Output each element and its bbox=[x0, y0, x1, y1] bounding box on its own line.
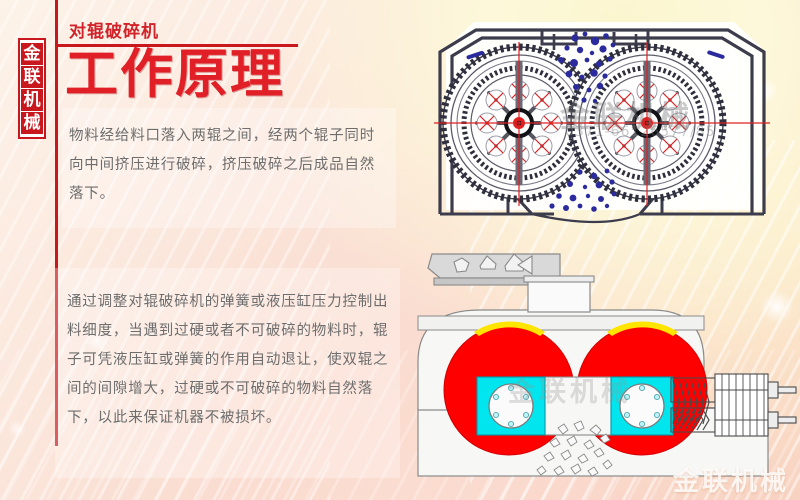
brand-logo-char: 械 bbox=[21, 112, 43, 134]
description-text-top: 物料经给料口落入两辊之间，经两个辊子同时向中间挤压进行破碎，挤压破碎之后成品自然… bbox=[69, 122, 386, 209]
description-panel-top: 物料经给料口落入两辊之间，经两个辊子同时向中间挤压进行破碎，挤压破碎之后成品自然… bbox=[62, 108, 396, 228]
crusher-section-svg bbox=[404, 0, 800, 232]
crusher-schematic-diagram bbox=[404, 232, 800, 500]
description-panel-bottom: 通过调整对辊破碎机的弹簧或液压缸压力控制出料细度，当遇到过硬或者不可破碎的物料时… bbox=[55, 268, 400, 478]
description-text-bottom: 通过调整对辊破碎机的弹簧或液压缸压力控制出料细度，当遇到过硬或者不可破碎的物料时… bbox=[67, 288, 390, 433]
brand-logo: 金 联 机 械 bbox=[18, 38, 46, 139]
crusher-schematic-svg bbox=[404, 232, 800, 500]
left-bearing-housing bbox=[477, 377, 545, 435]
slide-root: 金 联 机 械 对辊破碎机 工作原理 物料经给料口落入两辊之间，经两个辊子同时向… bbox=[0, 0, 800, 500]
adjustment-frame bbox=[715, 374, 768, 436]
right-bearing-housing bbox=[611, 377, 673, 435]
adjustment-bolt bbox=[768, 382, 796, 428]
crusher-section-diagram bbox=[404, 0, 800, 232]
page-title: 工作原理 bbox=[65, 48, 285, 101]
brand-logo-char: 金 bbox=[21, 43, 43, 65]
brand-logo-char: 机 bbox=[21, 89, 43, 111]
brand-logo-char: 联 bbox=[21, 66, 43, 88]
page-subtitle: 对辊破碎机 bbox=[69, 17, 159, 42]
